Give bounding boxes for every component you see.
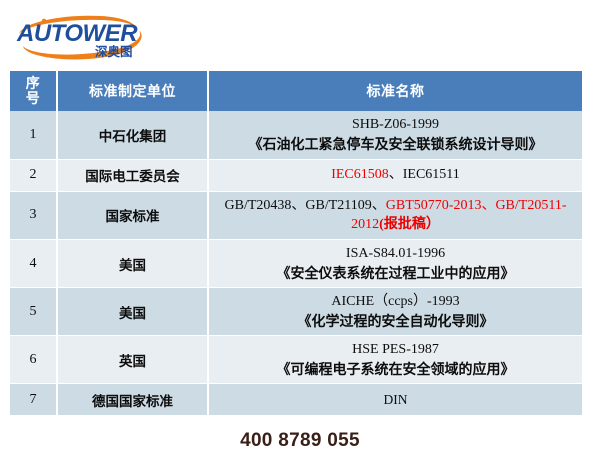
column-header-organization: 标准制定单位 xyxy=(57,71,208,111)
standard-code-highlighted: IEC61508 xyxy=(331,167,389,182)
table-row: 6 英国 HSE PES-1987 《可编程电子系统在安全领域的应用》 xyxy=(10,336,582,384)
standard-code: AICHE（ccps）-1993 xyxy=(212,293,579,312)
table-row: 3 国家标准 GB/T20438、GB/T21109、GBT50770-2013… xyxy=(10,191,582,240)
cell-organization: 美国 xyxy=(57,288,208,336)
header-row: 序 号 标准制定单位 标准名称 xyxy=(10,71,582,111)
cell-standard-name: HSE PES-1987 《可编程电子系统在安全领域的应用》 xyxy=(208,336,582,384)
table-row: 1 中石化集团 SHB-Z06-1999 《石油化工紧急停车及安全联锁系统设计导… xyxy=(10,111,582,159)
standard-code: SHB-Z06-1999 xyxy=(212,116,579,135)
table-row: 2 国际电工委员会 IEC61508、IEC61511 xyxy=(10,159,582,191)
standard-title: 《石油化工紧急停车及安全联锁系统设计导则》 xyxy=(212,135,579,154)
standard-code: HSE PES-1987 xyxy=(212,341,579,360)
company-logo: AUTOWER 深奥图 xyxy=(13,10,153,60)
cell-organization: 国际电工委员会 xyxy=(57,159,208,191)
cell-sequence: 1 xyxy=(10,111,57,159)
logo-svg: AUTOWER 深奥图 xyxy=(13,10,153,60)
cell-standard-name: AICHE（ccps）-1993 《化学过程的安全自动化导则》 xyxy=(208,288,582,336)
standard-code: ISA-S84.01-1996 xyxy=(212,245,579,264)
standard-code: GB/T20438、GB/T21109、 xyxy=(225,198,386,213)
standard-title: 《可编程电子系统在安全领域的应用》 xyxy=(212,360,579,379)
cell-sequence: 7 xyxy=(10,384,57,416)
table-header: 序 号 标准制定单位 标准名称 xyxy=(10,71,582,111)
standards-table: 序 号 标准制定单位 标准名称 1 中石化集团 SHB-Z06-1999 《石油… xyxy=(10,71,582,416)
seq-header-line2: 号 xyxy=(12,91,54,106)
footer-phone-number: 400 8789 055 xyxy=(0,430,600,452)
logo-wordmark: AUTOWER xyxy=(16,20,138,47)
table-row: 7 德国国家标准 DIN xyxy=(10,384,582,416)
table-row: 4 美国 ISA-S84.01-1996 《安全仪表系统在过程工业中的应用》 xyxy=(10,240,582,288)
cell-organization: 国家标准 xyxy=(57,191,208,240)
column-header-sequence: 序 号 xyxy=(10,71,57,111)
standard-code: 、IEC61511 xyxy=(389,167,460,182)
cell-organization: 德国国家标准 xyxy=(57,384,208,416)
cell-standard-name: IEC61508、IEC61511 xyxy=(208,159,582,191)
cell-sequence: 2 xyxy=(10,159,57,191)
cell-sequence: 6 xyxy=(10,336,57,384)
cell-sequence: 3 xyxy=(10,191,57,240)
table-body: 1 中石化集团 SHB-Z06-1999 《石油化工紧急停车及安全联锁系统设计导… xyxy=(10,111,582,416)
logo-dot-icon xyxy=(42,19,47,24)
cell-standard-name: GB/T20438、GB/T21109、GBT50770-2013、GB/T20… xyxy=(208,191,582,240)
cell-standard-name: SHB-Z06-1999 《石油化工紧急停车及安全联锁系统设计导则》 xyxy=(208,111,582,159)
seq-header-line1: 序 xyxy=(12,76,54,91)
table-row: 5 美国 AICHE（ccps）-1993 《化学过程的安全自动化导则》 xyxy=(10,288,582,336)
cell-sequence: 5 xyxy=(10,288,57,336)
cell-organization: 英国 xyxy=(57,336,208,384)
cell-standard-name: DIN xyxy=(208,384,582,416)
logo-sub-wordmark: 深奥图 xyxy=(95,44,133,59)
cell-standard-name: ISA-S84.01-1996 《安全仪表系统在过程工业中的应用》 xyxy=(208,240,582,288)
standard-code-draft-note: (报批稿） xyxy=(379,217,440,232)
cell-organization: 中石化集团 xyxy=(57,111,208,159)
cell-sequence: 4 xyxy=(10,240,57,288)
standard-title: 《安全仪表系统在过程工业中的应用》 xyxy=(212,264,579,283)
standard-title: 《化学过程的安全自动化导则》 xyxy=(212,312,579,331)
column-header-standard-name: 标准名称 xyxy=(208,71,582,111)
cell-organization: 美国 xyxy=(57,240,208,288)
